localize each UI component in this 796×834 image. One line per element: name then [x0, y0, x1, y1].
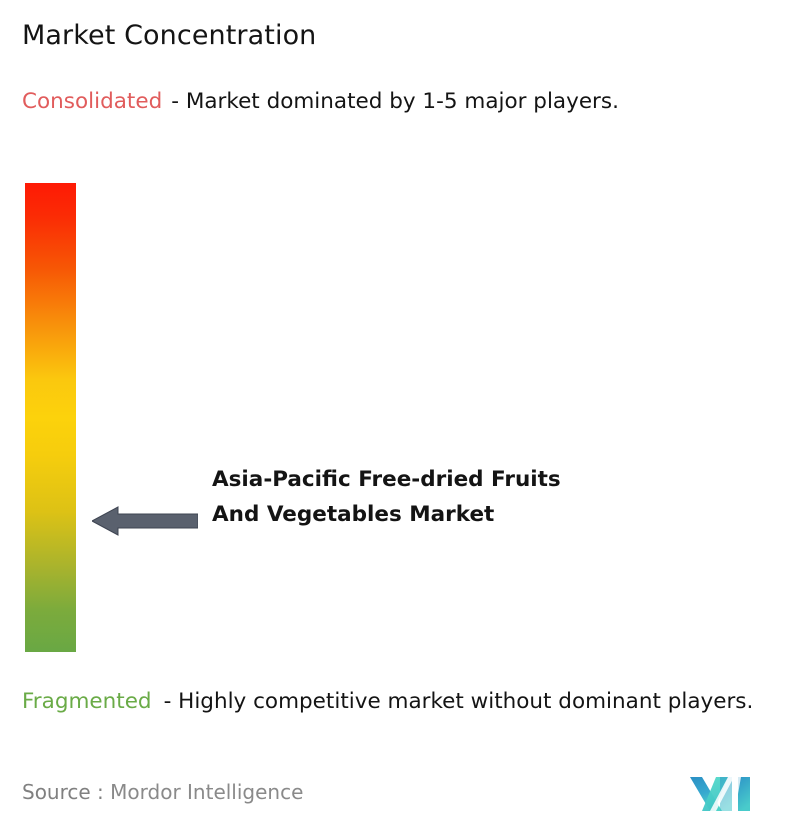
page-title: Market Concentration	[22, 20, 316, 51]
market-callout: Asia-Pacific Free-dried Fruits And Veget…	[92, 462, 692, 582]
concentration-gradient-bar	[25, 183, 76, 652]
legend-fragmented: Fragmented- Highly competitive market wi…	[22, 686, 784, 717]
legend-consolidated-description: - Market dominated by 1-5 major players.	[171, 89, 619, 114]
legend-fragmented-keyword: Fragmented	[22, 689, 152, 714]
footer: Source : Mordor Intelligence	[0, 770, 796, 834]
market-concentration-infographic: Market Concentration Consolidated- Marke…	[0, 0, 796, 834]
legend-fragmented-description: - Highly competitive market without domi…	[164, 689, 754, 714]
legend-consolidated: Consolidated- Market dominated by 1-5 ma…	[22, 86, 774, 117]
left-arrow-icon	[92, 506, 198, 536]
market-callout-label: Asia-Pacific Free-dried Fruits And Veget…	[212, 462, 612, 532]
mordor-intelligence-logo-icon	[688, 772, 758, 816]
source-attribution: Source : Mordor Intelligence	[22, 780, 303, 804]
legend-consolidated-keyword: Consolidated	[22, 89, 162, 114]
source-value: Mordor Intelligence	[110, 780, 303, 804]
source-label: Source :	[22, 780, 104, 804]
